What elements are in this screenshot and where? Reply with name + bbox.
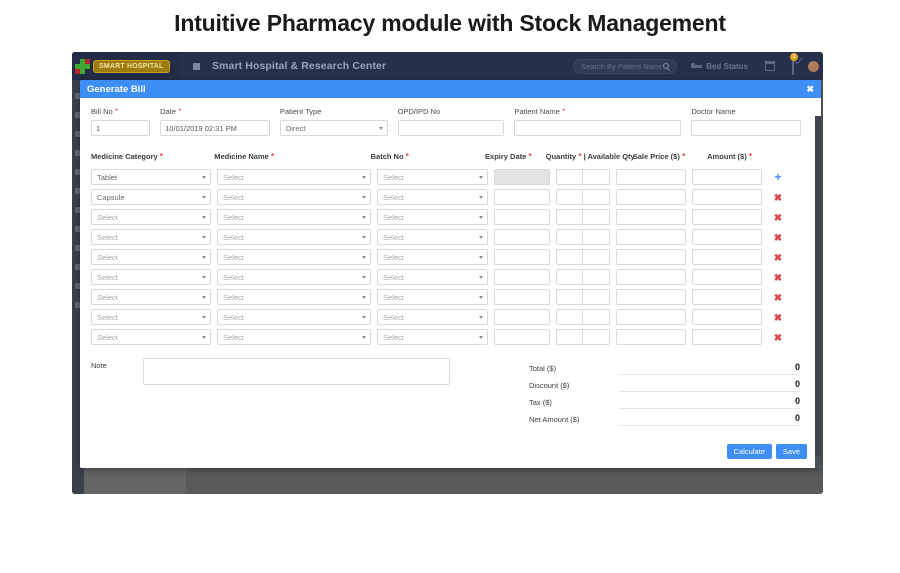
medicine-category-select[interactable]: Tablet bbox=[91, 169, 211, 185]
total-value[interactable] bbox=[619, 360, 801, 375]
chevron-down-icon bbox=[362, 256, 366, 259]
table-row: SelectSelectSelect✖ bbox=[91, 327, 801, 347]
amount-input[interactable] bbox=[692, 269, 762, 285]
delete-row-button[interactable]: ✖ bbox=[774, 313, 782, 324]
medicine-name-value: Select bbox=[223, 213, 244, 222]
medicine-category-select[interactable]: Capsule bbox=[91, 189, 211, 205]
medicine-name-select[interactable]: Select bbox=[217, 289, 371, 305]
quantity-input[interactable] bbox=[556, 229, 583, 245]
medicine-name-value: Select bbox=[223, 253, 244, 262]
table-row: TabletSelectSelect+ bbox=[91, 167, 801, 187]
table-row: SelectSelectSelect✖ bbox=[91, 227, 801, 247]
field-patient-name: Patient Name * bbox=[514, 107, 691, 136]
discount-label: Discount ($) bbox=[529, 381, 619, 392]
field-bill-no: Bill No * bbox=[91, 107, 160, 136]
delete-row-button[interactable]: ✖ bbox=[774, 273, 782, 284]
medicine-name-value: Select bbox=[223, 313, 244, 322]
quantity-input[interactable] bbox=[556, 289, 583, 305]
medicine-name-value: Select bbox=[223, 273, 244, 282]
batch-no-select[interactable]: Select bbox=[377, 229, 488, 245]
chevron-down-icon bbox=[362, 176, 366, 179]
expiry-date-input[interactable] bbox=[494, 309, 550, 325]
patient-type-select[interactable]: Direct bbox=[280, 120, 388, 136]
total-label: Total ($) bbox=[529, 364, 619, 375]
note-textarea[interactable] bbox=[143, 358, 450, 385]
batch-no-select[interactable]: Select bbox=[377, 169, 488, 185]
tax-label: Tax ($) bbox=[529, 398, 619, 409]
field-opd-ipd-no: OPD/IPD No bbox=[398, 107, 515, 136]
add-row-button[interactable]: + bbox=[774, 170, 781, 184]
chevron-down-icon bbox=[479, 236, 483, 239]
sale-price-input[interactable] bbox=[616, 189, 686, 205]
medicine-name-select[interactable]: Select bbox=[217, 169, 371, 185]
batch-no-value: Select bbox=[383, 273, 404, 282]
expiry-date-input[interactable] bbox=[494, 329, 550, 345]
opd-ipd-no-input[interactable] bbox=[398, 120, 505, 136]
page-title: Intuitive Pharmacy module with Stock Man… bbox=[0, 0, 900, 48]
net-amount-value[interactable] bbox=[619, 411, 801, 426]
field-label: Patient Name * bbox=[514, 107, 681, 116]
close-icon[interactable]: ✖ bbox=[806, 85, 814, 94]
user-avatar[interactable] bbox=[808, 61, 819, 72]
chevron-down-icon bbox=[202, 276, 206, 279]
chevron-down-icon bbox=[202, 196, 206, 199]
expiry-date-input[interactable] bbox=[494, 289, 550, 305]
available-qty-input bbox=[583, 169, 610, 185]
patient-type-value: Direct bbox=[286, 124, 306, 133]
medicine-category-value: Capsule bbox=[97, 193, 125, 202]
patient-search-box[interactable] bbox=[573, 59, 677, 74]
bed-status-label: Bed Status bbox=[706, 62, 748, 71]
medicine-name-select[interactable]: Select bbox=[217, 329, 371, 345]
expiry-date-input[interactable] bbox=[494, 209, 550, 225]
quantity-input[interactable] bbox=[556, 209, 583, 225]
amount-input[interactable] bbox=[692, 249, 762, 265]
amount-input[interactable] bbox=[692, 169, 762, 185]
batch-no-value: Select bbox=[383, 193, 404, 202]
field-patient-type: Patient Type Direct bbox=[280, 107, 398, 136]
field-date: Date * bbox=[160, 107, 280, 136]
chevron-down-icon bbox=[479, 276, 483, 279]
generate-bill-modal: Generate Bill ✖ Bill No * Date * Patient… bbox=[80, 80, 821, 468]
medicine-category-select[interactable]: Select bbox=[91, 229, 211, 245]
delete-row-button[interactable]: ✖ bbox=[774, 293, 782, 304]
medicine-name-value: Select bbox=[223, 193, 244, 202]
sale-price-input[interactable] bbox=[616, 209, 686, 225]
chevron-down-icon bbox=[202, 176, 206, 179]
chevron-down-icon bbox=[202, 316, 206, 319]
chevron-down-icon bbox=[362, 296, 366, 299]
total-row-net-amount: Net Amount ($) bbox=[529, 409, 801, 426]
quantity-input[interactable] bbox=[556, 189, 583, 205]
delete-row-button[interactable]: ✖ bbox=[774, 333, 782, 344]
chevron-down-icon bbox=[379, 127, 383, 130]
brand-block[interactable]: SMART HOSPITAL bbox=[72, 52, 179, 80]
batch-no-select[interactable]: Select bbox=[377, 309, 488, 325]
medicine-name-value: Select bbox=[223, 233, 244, 242]
tax-value[interactable] bbox=[619, 394, 801, 409]
medicine-name-select[interactable]: Select bbox=[217, 189, 371, 205]
save-button[interactable]: Save bbox=[776, 444, 807, 460]
amount-input[interactable] bbox=[692, 229, 762, 245]
chevron-down-icon bbox=[202, 336, 206, 339]
sale-price-input[interactable] bbox=[616, 289, 686, 305]
delete-row-button[interactable]: ✖ bbox=[774, 213, 782, 224]
chevron-down-icon bbox=[479, 296, 483, 299]
total-row-total: Total ($) bbox=[529, 358, 801, 375]
medicine-category-select[interactable]: Select bbox=[91, 309, 211, 325]
medicine-name-value: Select bbox=[223, 333, 244, 342]
summary-area: Note Total ($) Discount ($) Tax ($) bbox=[91, 358, 801, 426]
modal-footer: Calculate Save bbox=[727, 444, 807, 460]
batch-no-value: Select bbox=[383, 253, 404, 262]
available-qty-input bbox=[583, 329, 610, 345]
amount-input[interactable] bbox=[692, 289, 762, 305]
table-row: SelectSelectSelect✖ bbox=[91, 207, 801, 227]
medicine-category-value: Select bbox=[97, 293, 118, 302]
quantity-input[interactable] bbox=[556, 249, 583, 265]
expiry-date-input[interactable] bbox=[494, 189, 550, 205]
application-window: SMART HOSPITAL Smart Hospital & Research… bbox=[72, 52, 823, 494]
available-qty-input bbox=[583, 269, 610, 285]
medicine-name-select[interactable]: Select bbox=[217, 269, 371, 285]
sale-price-input[interactable] bbox=[616, 169, 686, 185]
medicine-category-value: Select bbox=[97, 313, 118, 322]
amount-input[interactable] bbox=[692, 189, 762, 205]
medicine-category-select[interactable]: Select bbox=[91, 289, 211, 305]
chevron-down-icon bbox=[479, 196, 483, 199]
medicine-name-select[interactable]: Select bbox=[217, 229, 371, 245]
medicine-name-select[interactable]: Select bbox=[217, 249, 371, 265]
medicine-category-value: Select bbox=[97, 213, 118, 222]
batch-no-select[interactable]: Select bbox=[377, 189, 488, 205]
field-label: Bill No * bbox=[91, 107, 150, 116]
table-row: SelectSelectSelect✖ bbox=[91, 267, 801, 287]
delete-row-button[interactable]: ✖ bbox=[774, 193, 782, 204]
table-row: CapsuleSelectSelect✖ bbox=[91, 187, 801, 207]
expiry-date-input[interactable] bbox=[494, 269, 550, 285]
modal-body: Bill No * Date * Patient Type Direct OPD… bbox=[80, 98, 821, 468]
topbar-actions: Bed Status 1 bbox=[573, 57, 823, 75]
sale-price-input[interactable] bbox=[616, 329, 686, 345]
expiry-date-input[interactable] bbox=[494, 229, 550, 245]
medicine-category-select[interactable]: Select bbox=[91, 269, 211, 285]
chevron-down-icon bbox=[202, 236, 206, 239]
chevron-down-icon bbox=[202, 216, 206, 219]
column-header-medicine-name: Medicine Name * bbox=[214, 152, 274, 161]
batch-no-select[interactable]: Select bbox=[377, 249, 488, 265]
medicine-category-value: Select bbox=[97, 273, 118, 282]
patient-name-input[interactable] bbox=[514, 120, 681, 136]
search-icon[interactable] bbox=[663, 63, 669, 69]
amount-input[interactable] bbox=[692, 209, 762, 225]
chevron-down-icon bbox=[362, 236, 366, 239]
modal-scrollbar-thumb[interactable] bbox=[815, 116, 821, 456]
modal-title: Generate Bill bbox=[87, 84, 146, 95]
available-qty-input bbox=[583, 209, 610, 225]
available-qty-input bbox=[583, 189, 610, 205]
column-header-amount: Amount ($) * bbox=[707, 152, 752, 161]
bed-icon bbox=[691, 63, 702, 70]
batch-no-select[interactable]: Select bbox=[377, 269, 488, 285]
medicine-table-header: Medicine Category * Medicine Name * Batc… bbox=[91, 146, 801, 167]
available-qty-input bbox=[583, 309, 610, 325]
chevron-down-icon bbox=[202, 296, 206, 299]
calculate-button[interactable]: Calculate bbox=[727, 444, 772, 460]
table-row: SelectSelectSelect✖ bbox=[91, 307, 801, 327]
chevron-down-icon bbox=[362, 336, 366, 339]
totals-block: Total ($) Discount ($) Tax ($) Net Amoun… bbox=[511, 358, 801, 426]
column-header-medicine-category: Medicine Category * bbox=[91, 152, 163, 161]
total-row-discount: Discount ($) bbox=[529, 375, 801, 392]
batch-no-value: Select bbox=[383, 233, 404, 242]
medicine-category-select[interactable]: Select bbox=[91, 329, 211, 345]
bill-no-input[interactable] bbox=[91, 120, 150, 136]
discount-value[interactable] bbox=[619, 377, 801, 392]
sale-price-input[interactable] bbox=[616, 269, 686, 285]
column-header-batch-no: Batch No * bbox=[371, 152, 409, 161]
medicine-category-value: Select bbox=[97, 253, 118, 262]
medicine-category-value: Select bbox=[97, 233, 118, 242]
table-row: SelectSelectSelect✖ bbox=[91, 247, 801, 267]
chevron-down-icon bbox=[479, 316, 483, 319]
calendar-icon[interactable] bbox=[765, 61, 775, 71]
column-header-expiry-date: Expiry Date * bbox=[485, 152, 532, 161]
available-qty-input bbox=[583, 289, 610, 305]
available-qty-input bbox=[583, 229, 610, 245]
sale-price-input[interactable] bbox=[616, 249, 686, 265]
medicine-name-value: Select bbox=[223, 173, 244, 182]
sale-price-input[interactable] bbox=[616, 229, 686, 245]
batch-no-select[interactable]: Select bbox=[377, 329, 488, 345]
medicine-name-select[interactable]: Select bbox=[217, 209, 371, 225]
medicine-name-select[interactable]: Select bbox=[217, 309, 371, 325]
chevron-down-icon bbox=[362, 216, 366, 219]
available-qty-input bbox=[583, 249, 610, 265]
doctor-name-input[interactable] bbox=[691, 120, 801, 136]
notification-badge: 1 bbox=[790, 53, 798, 61]
brand-name-badge: SMART HOSPITAL bbox=[93, 60, 170, 73]
expiry-date-input bbox=[494, 169, 550, 185]
batch-no-select[interactable]: Select bbox=[377, 289, 488, 305]
batch-no-value: Select bbox=[383, 333, 404, 342]
amount-input[interactable] bbox=[692, 329, 762, 345]
chevron-down-icon bbox=[362, 276, 366, 279]
medicine-name-value: Select bbox=[223, 293, 244, 302]
column-header-quantity: Quantity * | Available Qty bbox=[546, 152, 635, 161]
field-label: Date * bbox=[160, 107, 270, 116]
hamburger-menu-icon[interactable] bbox=[193, 63, 200, 70]
delete-row-button[interactable]: ✖ bbox=[774, 253, 782, 264]
chevron-down-icon bbox=[362, 196, 366, 199]
batch-no-select[interactable]: Select bbox=[377, 209, 488, 225]
field-doctor-name: Doctor Name bbox=[691, 107, 801, 136]
date-input[interactable] bbox=[160, 120, 270, 136]
field-label: Patient Type bbox=[280, 107, 388, 116]
messages-button[interactable]: 1 bbox=[792, 57, 794, 75]
chevron-down-icon bbox=[479, 336, 483, 339]
modal-scrollbar[interactable] bbox=[815, 116, 821, 468]
chevron-down-icon bbox=[202, 256, 206, 259]
column-header-sale-price: Sale Price ($) * bbox=[633, 152, 685, 161]
batch-no-value: Select bbox=[383, 313, 404, 322]
medicine-category-value: Select bbox=[97, 333, 118, 342]
quantity-input[interactable] bbox=[556, 309, 583, 325]
note-label: Note bbox=[91, 358, 143, 370]
chevron-down-icon bbox=[479, 176, 483, 179]
note-block: Note bbox=[91, 358, 511, 426]
chevron-down-icon bbox=[479, 256, 483, 259]
top-navbar: SMART HOSPITAL Smart Hospital & Research… bbox=[72, 52, 823, 80]
app-title: Smart Hospital & Research Center bbox=[212, 60, 386, 72]
hospital-cross-logo-icon bbox=[75, 59, 90, 74]
total-row-tax: Tax ($) bbox=[529, 392, 801, 409]
medicine-category-value: Tablet bbox=[97, 173, 117, 182]
sale-price-input[interactable] bbox=[616, 309, 686, 325]
expiry-date-input[interactable] bbox=[494, 249, 550, 265]
modal-header: Generate Bill ✖ bbox=[80, 80, 821, 98]
amount-input[interactable] bbox=[692, 309, 762, 325]
search-input[interactable] bbox=[579, 61, 663, 72]
field-label: OPD/IPD No bbox=[398, 107, 505, 116]
batch-no-value: Select bbox=[383, 173, 404, 182]
net-amount-label: Net Amount ($) bbox=[529, 415, 619, 426]
bill-info-form: Bill No * Date * Patient Type Direct OPD… bbox=[91, 107, 801, 136]
delete-row-button[interactable]: ✖ bbox=[774, 233, 782, 244]
chevron-down-icon bbox=[362, 316, 366, 319]
table-row: SelectSelectSelect✖ bbox=[91, 287, 801, 307]
medicine-table-body: TabletSelectSelect+CapsuleSelectSelect✖S… bbox=[91, 167, 801, 347]
quantity-input[interactable] bbox=[556, 269, 583, 285]
batch-no-value: Select bbox=[383, 213, 404, 222]
quantity-input[interactable] bbox=[556, 169, 583, 185]
medicine-category-select[interactable]: Select bbox=[91, 249, 211, 265]
chevron-down-icon bbox=[479, 216, 483, 219]
field-label: Doctor Name bbox=[691, 107, 801, 116]
quantity-input[interactable] bbox=[556, 329, 583, 345]
bed-status-link[interactable]: Bed Status bbox=[691, 62, 748, 71]
batch-no-value: Select bbox=[383, 293, 404, 302]
medicine-category-select[interactable]: Select bbox=[91, 209, 211, 225]
